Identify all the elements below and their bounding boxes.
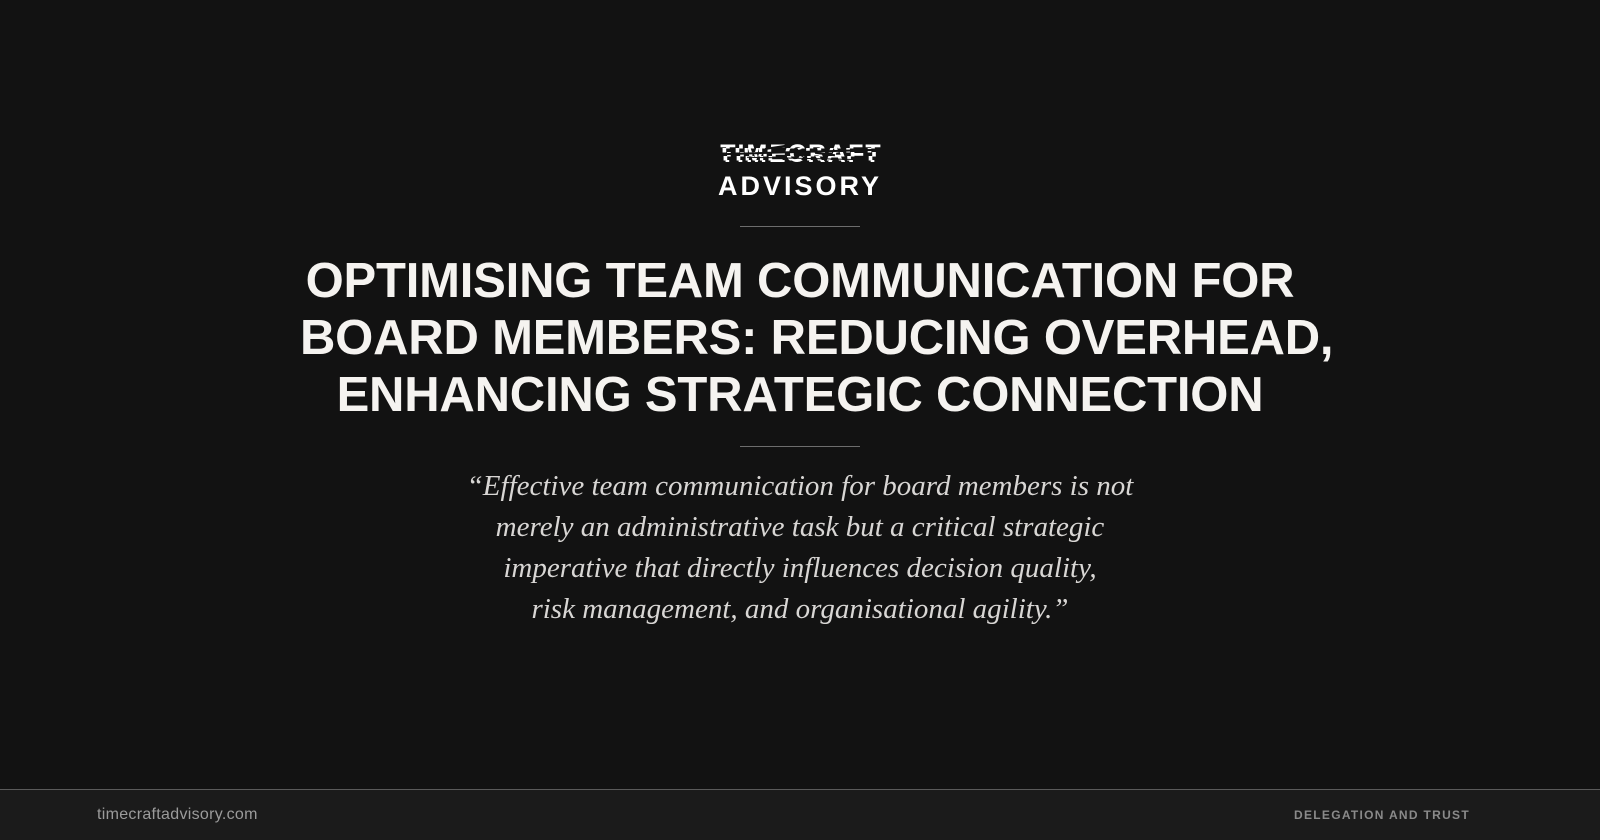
page-title: OPTIMISING TEAM COMMUNICATION FOR BOARD … bbox=[300, 253, 1300, 424]
pull-quote-line-3: imperative that directly influences deci… bbox=[370, 548, 1230, 589]
divider-above-headline bbox=[740, 226, 860, 227]
brand-wordmark-timecraft: TIMECRAFT TIMECRAFT TIMECRAFT TIMECRAFT … bbox=[719, 142, 881, 169]
slide-content-stage: TIMECRAFT TIMECRAFT TIMECRAFT TIMECRAFT … bbox=[0, 0, 1600, 789]
pull-quote-line-1: “Effective team communication for board … bbox=[370, 466, 1230, 507]
footer-website-url[interactable]: timecraftadvisory.com bbox=[97, 806, 258, 824]
page-title-line-2: BOARD MEMBERS: REDUCING OVERHEAD, bbox=[300, 310, 1300, 367]
pull-quote: “Effective team communication for board … bbox=[370, 466, 1230, 630]
footer-section-label: DELEGATION AND TRUST bbox=[1294, 808, 1503, 822]
brand-wordmark-glitch-group: TIMECRAFT TIMECRAFT TIMECRAFT TIMECRAFT … bbox=[719, 142, 881, 167]
pull-quote-line-2: merely an administrative task but a crit… bbox=[370, 507, 1230, 548]
brand-logo: TIMECRAFT TIMECRAFT TIMECRAFT TIMECRAFT … bbox=[718, 142, 882, 200]
title-slide: TIMECRAFT TIMECRAFT TIMECRAFT TIMECRAFT … bbox=[0, 0, 1600, 840]
slide-footer: timecraftadvisory.com DELEGATION AND TRU… bbox=[0, 789, 1600, 840]
page-title-line-1: OPTIMISING TEAM COMMUNICATION FOR bbox=[300, 253, 1300, 310]
divider-below-headline bbox=[740, 446, 860, 447]
pull-quote-line-4: risk management, and organisational agil… bbox=[370, 589, 1230, 630]
brand-wordmark-advisory: ADVISORY bbox=[718, 173, 882, 200]
page-title-line-3: ENHANCING STRATEGIC CONNECTION bbox=[300, 367, 1300, 424]
